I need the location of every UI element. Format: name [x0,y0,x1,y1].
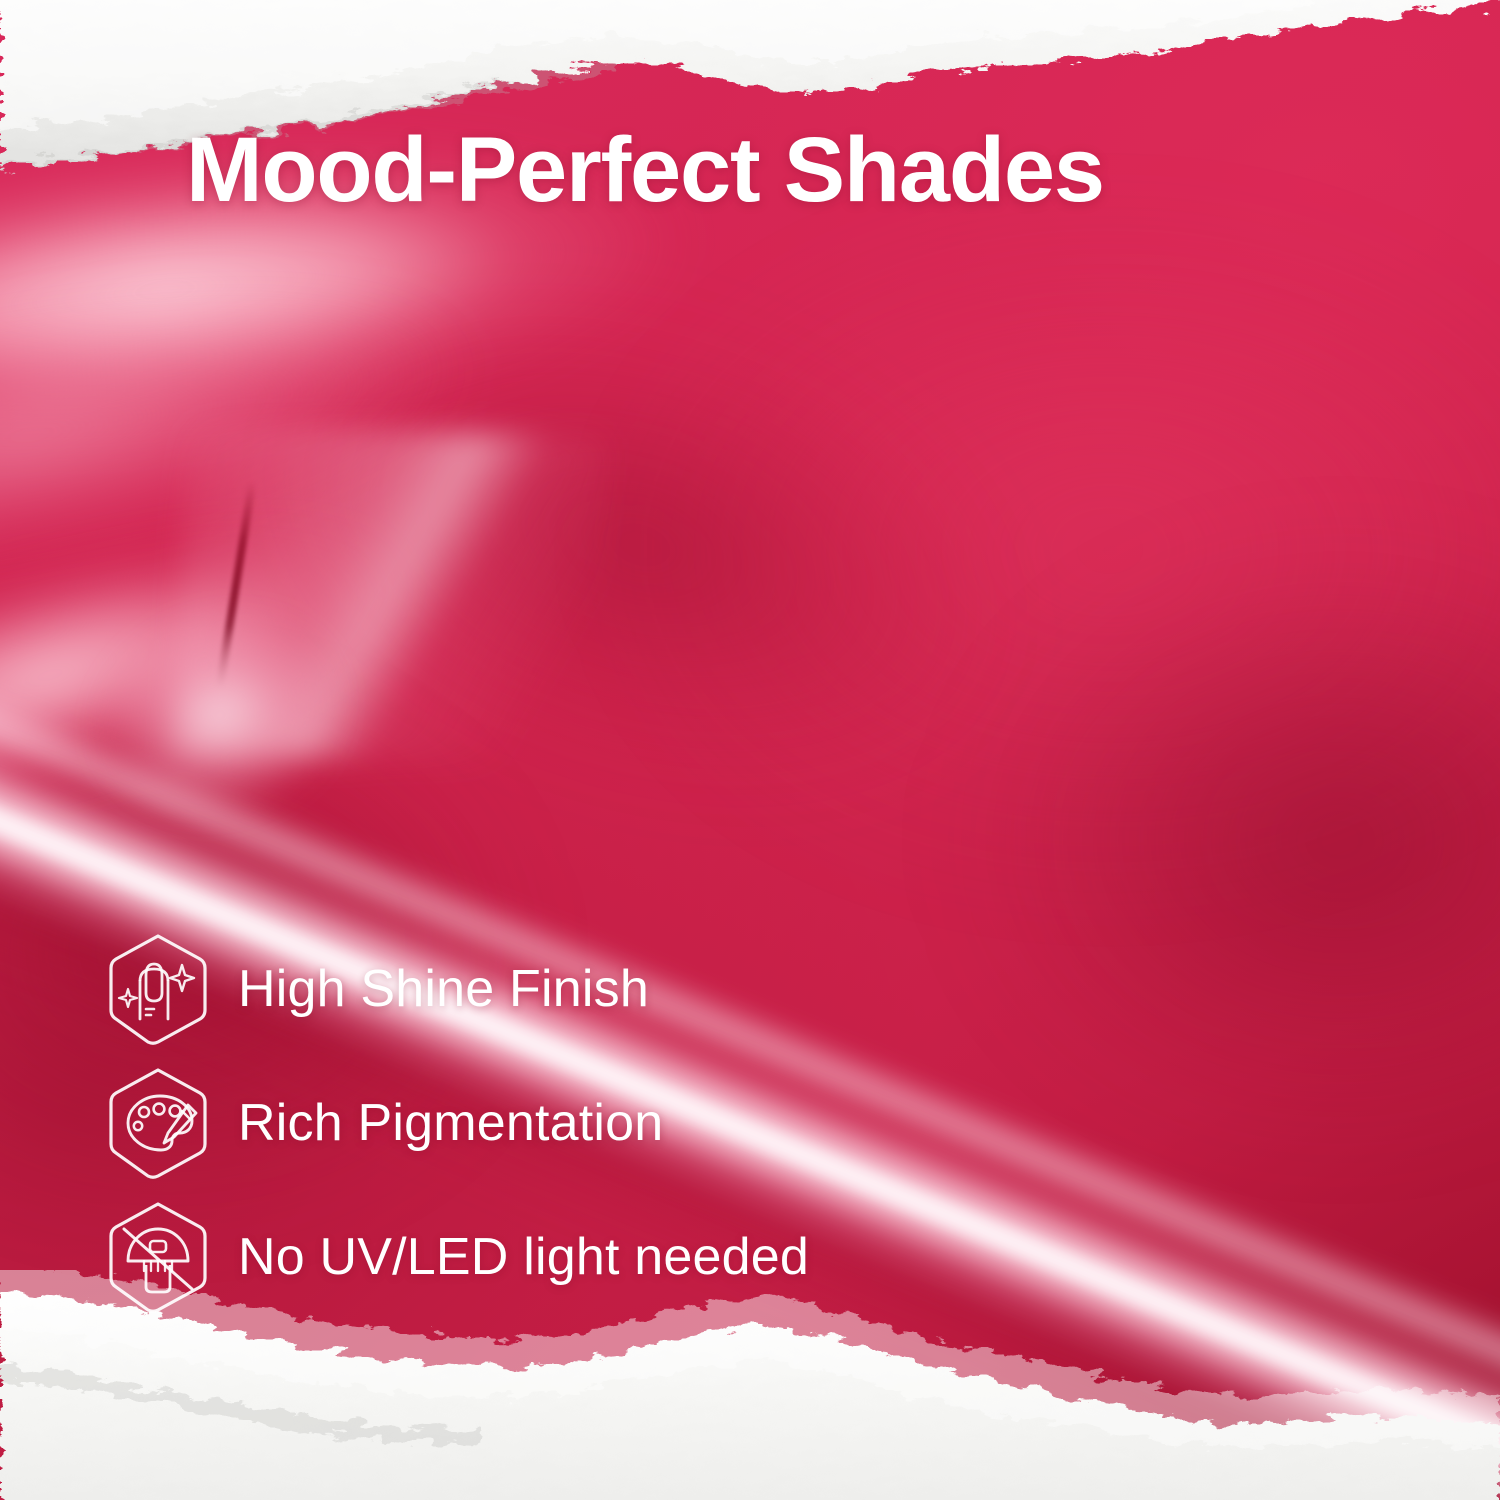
feature-label-high-shine: High Shine Finish [238,959,649,1019]
no-uv-lamp-icon [100,1199,216,1315]
feature-label-no-uv: No UV/LED light needed [238,1227,809,1287]
feature-list: High Shine Finish Rich Pigmentation [100,930,1100,1316]
feature-row-rich-pigmentation: Rich Pigmentation [100,1064,1100,1182]
feature-label-rich-pigmentation: Rich Pigmentation [238,1093,663,1153]
page-title: Mood-Perfect Shades [186,118,1104,223]
nail-sparkle-icon [100,931,216,1047]
paint-palette-icon [100,1065,216,1181]
feature-row-no-uv: No UV/LED light needed [100,1198,1100,1316]
feature-row-high-shine: High Shine Finish [100,930,1100,1048]
product-feature-banner: Mood-Perfect Shades High Shine Finish [0,0,1500,1500]
